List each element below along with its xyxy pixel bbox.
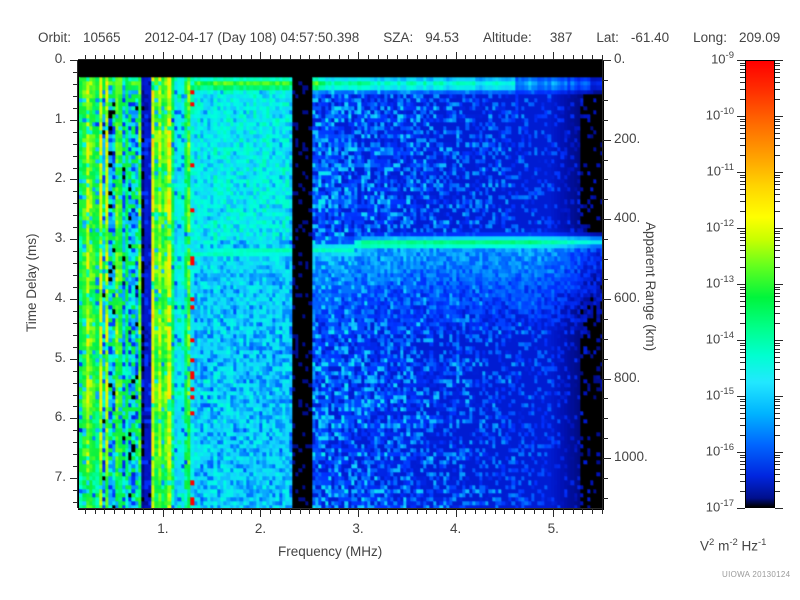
x-tick-label: 1. <box>143 521 183 536</box>
x-tick <box>85 509 86 514</box>
y-tick-left <box>70 299 78 300</box>
y-tick-right <box>603 359 608 360</box>
colorbar-minor-tick-right <box>775 405 780 406</box>
x-tick-top <box>241 55 242 60</box>
x-tick <box>563 509 564 514</box>
colorbar-minor-tick-right <box>775 461 780 462</box>
colorbar-minor-tick-left <box>740 301 745 302</box>
x-tick-top <box>348 55 349 60</box>
colorbar-minor-tick-right <box>775 231 780 232</box>
y-tick-right <box>603 219 611 220</box>
colorbar-minor-tick-right <box>775 464 780 465</box>
colorbar-minor-tick-left <box>740 357 745 358</box>
y-tick-right <box>603 478 608 479</box>
longitude-value: 209.09 <box>739 30 780 45</box>
tick-exponent: -14 <box>720 330 734 341</box>
y-tick-left <box>73 454 78 455</box>
y-tick-label-right: 0. <box>614 51 625 66</box>
colorbar-minor-tick-left <box>740 293 745 294</box>
x-tick-top <box>543 55 544 60</box>
colorbar-minor-tick-left <box>740 345 745 346</box>
tick-exponent: -13 <box>720 274 734 285</box>
longitude-label: Long: <box>693 30 727 45</box>
x-tick-top <box>173 55 174 60</box>
x-tick-top <box>163 52 164 60</box>
x-tick-top <box>192 55 193 60</box>
x-tick <box>153 509 154 514</box>
y-tick-left <box>73 72 78 73</box>
orbit-value: 10565 <box>83 30 121 45</box>
colorbar-minor-tick-left <box>740 401 745 402</box>
x-tick <box>553 509 554 517</box>
x-tick <box>465 509 466 514</box>
x-tick-top <box>426 55 427 60</box>
y-tick-label-right: 800. <box>614 370 640 385</box>
colorbar-minor-tick-left <box>740 306 745 307</box>
x-tick-top <box>124 55 125 60</box>
colorbar-minor-tick-left <box>740 257 745 258</box>
colorbar-minor-tick-left <box>740 72 745 73</box>
x-tick <box>319 509 320 514</box>
x-tick-top <box>378 55 379 60</box>
x-tick <box>534 509 535 514</box>
colorbar-minor-tick-left <box>740 267 745 268</box>
y-tick-label-left: 0. <box>0 51 66 66</box>
y-tick-right <box>603 179 608 180</box>
colorbar-minor-tick-left <box>740 145 745 146</box>
x-tick <box>426 509 427 514</box>
latitude-label: Lat: <box>596 30 619 45</box>
colorbar-minor-tick-left <box>740 77 745 78</box>
colorbar-minor-tick-left <box>740 121 745 122</box>
y-tick-left <box>70 239 78 240</box>
colorbar-minor-tick-left <box>740 323 745 324</box>
y-tick-right <box>603 60 611 61</box>
colorbar-minor-tick-right <box>775 379 780 380</box>
colorbar-tick-label: 10-9 <box>688 50 734 66</box>
y-tick-left <box>70 478 78 479</box>
y-tick-right <box>603 120 608 121</box>
axis-right-line <box>602 60 603 508</box>
colorbar-minor-tick-right <box>775 201 780 202</box>
x-tick <box>485 509 486 514</box>
colorbar-minor-tick-left <box>740 201 745 202</box>
x-tick-top <box>260 52 261 60</box>
colorbar-minor-tick-right <box>775 175 780 176</box>
colorbar-minor-tick-right <box>775 401 780 402</box>
x-tick <box>368 509 369 514</box>
tick-mantissa: 10 <box>706 387 720 402</box>
x-tick <box>543 509 544 514</box>
colorbar-minor-tick-left <box>740 425 745 426</box>
colorbar-minor-tick-right <box>775 181 780 182</box>
colorbar-minor-tick-right <box>775 345 780 346</box>
y-tick-right <box>603 299 611 300</box>
colorbar-major-tick-left <box>737 284 745 285</box>
colorbar-minor-tick-left <box>740 240 745 241</box>
y-tick-right <box>603 279 608 280</box>
colorbar-minor-tick-right <box>775 125 780 126</box>
y-axis-title-left: Time Delay (ms) <box>24 233 39 332</box>
y-tick-label-right: 1000. <box>614 449 648 464</box>
observation-datetime: 2012-04-17 (Day 108) 04:57:50.398 <box>145 30 360 45</box>
colorbar-minor-tick-right <box>775 343 780 344</box>
colorbar-minor-tick-right <box>775 145 780 146</box>
ionogram-plot-area <box>78 60 604 510</box>
colorbar-minor-tick-right <box>775 357 780 358</box>
unit-exp-3: -1 <box>758 537 766 548</box>
y-tick-right <box>603 140 611 141</box>
colorbar-minor-tick-left <box>740 362 745 363</box>
colorbar-minor-tick-left <box>740 89 745 90</box>
x-tick <box>592 509 593 514</box>
colorbar-minor-tick-left <box>740 181 745 182</box>
ionogram-page: Orbit: 10565 2012-04-17 (Day 108) 04:57:… <box>0 0 800 600</box>
sza-label: SZA: <box>383 30 413 45</box>
y-tick-right <box>603 199 608 200</box>
y-tick-left <box>73 466 78 467</box>
x-tick-top <box>319 55 320 60</box>
colorbar-minor-tick-left <box>740 119 745 120</box>
credit-footer: UIOWA 20130124 <box>722 570 790 579</box>
x-tick-top <box>553 52 554 60</box>
x-tick-top <box>85 55 86 60</box>
colorbar-minor-tick-right <box>775 469 780 470</box>
colorbar-major-tick-left <box>737 172 745 173</box>
y-tick-right <box>603 458 611 459</box>
colorbar-minor-tick-right <box>775 306 780 307</box>
y-tick-left <box>70 120 78 121</box>
unit-base: V <box>700 539 709 554</box>
x-tick <box>212 509 213 514</box>
tick-exponent: -17 <box>720 498 734 509</box>
x-tick <box>582 509 583 514</box>
tick-mantissa: 10 <box>706 219 720 234</box>
y-tick-left <box>70 359 78 360</box>
colorbar-major-tick-left <box>737 60 745 61</box>
x-tick <box>407 509 408 514</box>
colorbar-minor-tick-left <box>740 343 745 344</box>
colorbar-minor-tick-right <box>775 237 780 238</box>
colorbar-minor-tick-left <box>740 413 745 414</box>
y-tick-left <box>73 168 78 169</box>
y-tick-right <box>603 80 608 81</box>
x-tick-top <box>582 55 583 60</box>
y-tick-left <box>73 191 78 192</box>
x-tick <box>446 509 447 514</box>
x-tick-top <box>339 55 340 60</box>
y-tick-label-left: 7. <box>0 469 66 484</box>
colorbar-minor-tick-left <box>740 457 745 458</box>
colorbar-minor-tick-right <box>775 77 780 78</box>
y-tick-left <box>73 156 78 157</box>
x-tick <box>456 509 457 517</box>
x-tick-top <box>602 55 603 60</box>
x-tick <box>114 509 115 514</box>
tick-exponent: -12 <box>720 218 734 229</box>
colorbar-minor-tick-left <box>740 125 745 126</box>
y-tick-right <box>603 418 608 419</box>
colorbar-minor-tick-right <box>775 245 780 246</box>
colorbar-minor-tick-right <box>775 474 780 475</box>
x-tick-top <box>465 55 466 60</box>
colorbar-tick-label: 10-15 <box>688 386 734 402</box>
latitude-value: -61.40 <box>631 30 669 45</box>
x-tick-top <box>153 55 154 60</box>
colorbar-major-tick-left <box>737 452 745 453</box>
x-tick <box>104 509 105 514</box>
x-tick-top <box>573 55 574 60</box>
colorbar-minor-tick-left <box>740 128 745 129</box>
y-tick-right <box>603 160 608 161</box>
x-tick-top <box>524 55 525 60</box>
colorbar-minor-tick-left <box>740 250 745 251</box>
colorbar-major-tick-right <box>775 116 783 117</box>
colorbar-major-tick-left <box>737 228 745 229</box>
colorbar-minor-tick-left <box>740 352 745 353</box>
y-tick-label-left: 5. <box>0 350 66 365</box>
y-tick-right <box>603 259 608 260</box>
y-tick-left <box>73 275 78 276</box>
y-tick-label-left: 1. <box>0 111 66 126</box>
tick-mantissa: 10 <box>706 331 720 346</box>
x-tick-top <box>456 52 457 60</box>
y-axis-title-right: Apparent Range (km) <box>643 222 658 351</box>
x-tick-top <box>407 55 408 60</box>
x-tick-top <box>104 55 105 60</box>
x-tick-top <box>280 55 281 60</box>
x-tick <box>309 509 310 514</box>
colorbar-minor-tick-left <box>740 474 745 475</box>
y-tick-label-right: 200. <box>614 131 640 146</box>
colorbar-minor-tick-left <box>740 69 745 70</box>
x-tick-label: 5. <box>533 521 573 536</box>
colorbar-minor-tick-right <box>775 184 780 185</box>
colorbar-minor-tick-left <box>740 491 745 492</box>
y-tick-left <box>73 144 78 145</box>
x-tick-label: 3. <box>338 521 378 536</box>
colorbar-minor-tick-left <box>740 177 745 178</box>
y-tick-left <box>73 490 78 491</box>
colorbar-minor-tick-right <box>775 257 780 258</box>
colorbar-major-tick-right <box>775 228 783 229</box>
colorbar-minor-tick-left <box>740 175 745 176</box>
colorbar-minor-tick-right <box>775 82 780 83</box>
colorbar-minor-tick-right <box>775 177 780 178</box>
unit-exp-2: -2 <box>729 537 737 548</box>
colorbar-minor-tick-left <box>740 313 745 314</box>
y-tick-right <box>603 498 608 499</box>
y-tick-label-left: 2. <box>0 170 66 185</box>
tick-exponent: -11 <box>721 162 734 173</box>
colorbar-minor-tick-right <box>775 194 780 195</box>
x-tick <box>192 509 193 514</box>
colorbar-minor-tick-right <box>775 425 780 426</box>
colorbar-minor-tick-left <box>740 405 745 406</box>
colorbar-minor-tick-left <box>740 379 745 380</box>
x-tick <box>270 509 271 514</box>
y-tick-left <box>73 108 78 109</box>
x-tick-top <box>251 55 252 60</box>
x-tick <box>300 509 301 514</box>
y-tick-right <box>603 239 608 240</box>
x-tick-top <box>436 55 437 60</box>
colorbar-tick-label: 10-12 <box>688 218 734 234</box>
tick-exponent: -9 <box>726 50 734 61</box>
colorbar-minor-tick-left <box>740 138 745 139</box>
colorbar-minor-tick-right <box>775 128 780 129</box>
colorbar-minor-tick-right <box>775 418 780 419</box>
colorbar-minor-tick-right <box>775 267 780 268</box>
colorbar-minor-tick-left <box>740 184 745 185</box>
altitude-label: Altitude: <box>483 30 532 45</box>
colorbar-tick-label: 10-13 <box>688 274 734 290</box>
colorbar-tick-label: 10-11 <box>688 162 734 178</box>
metadata-header: Orbit: 10565 2012-04-17 (Day 108) 04:57:… <box>0 30 800 48</box>
colorbar-minor-tick-right <box>775 491 780 492</box>
y-tick-left <box>73 132 78 133</box>
colorbar-minor-tick-right <box>775 313 780 314</box>
colorbar-minor-tick-right <box>775 240 780 241</box>
x-tick-label: 2. <box>240 521 280 536</box>
y-tick-right <box>603 379 611 380</box>
x-tick <box>387 509 388 514</box>
colorbar-major-tick-right <box>775 396 783 397</box>
colorbar-minor-tick-right <box>775 233 780 234</box>
x-tick <box>95 509 96 514</box>
colorbar-minor-tick-left <box>740 65 745 66</box>
x-tick-top <box>495 55 496 60</box>
colorbar-minor-tick-right <box>775 289 780 290</box>
x-tick-top <box>290 55 291 60</box>
x-tick <box>495 509 496 514</box>
y-tick-left <box>70 418 78 419</box>
axis-left-line <box>77 60 78 508</box>
colorbar-minor-tick-left <box>740 233 745 234</box>
colorbar-minor-tick-right <box>775 408 780 409</box>
x-tick-top <box>387 55 388 60</box>
ionogram-image <box>79 61 603 509</box>
colorbar-minor-tick-right <box>775 323 780 324</box>
colorbar-major-tick-left <box>737 508 745 509</box>
colorbar-major-tick-left <box>737 340 745 341</box>
y-tick-left <box>70 60 78 61</box>
y-tick-left <box>70 179 78 180</box>
tick-mantissa: 10 <box>706 499 720 514</box>
colorbar-minor-tick-left <box>740 369 745 370</box>
colorbar-minor-tick-left <box>740 289 745 290</box>
colorbar-minor-tick-right <box>775 89 780 90</box>
colorbar-tick-label: 10-17 <box>688 498 734 514</box>
y-tick-left <box>73 395 78 396</box>
x-tick <box>436 509 437 514</box>
colorbar-minor-tick-right <box>775 296 780 297</box>
x-tick <box>524 509 525 514</box>
x-axis-title: Frequency (MHz) <box>278 544 382 559</box>
colorbar-unit-label: V2 m-2 Hz-1 <box>700 537 766 554</box>
colorbar-minor-tick-right <box>775 369 780 370</box>
colorbar-minor-tick-left <box>740 464 745 465</box>
colorbar-minor-tick-left <box>740 349 745 350</box>
x-tick <box>143 509 144 514</box>
colorbar-minor-tick-right <box>775 481 780 482</box>
colorbar-minor-tick-right <box>775 69 780 70</box>
x-tick-top <box>114 55 115 60</box>
colorbar-minor-tick-left <box>740 63 745 64</box>
tick-mantissa: 10 <box>707 163 721 178</box>
y-tick-left <box>73 502 78 503</box>
x-tick <box>329 509 330 514</box>
colorbar-minor-tick-left <box>740 461 745 462</box>
y-tick-left <box>73 215 78 216</box>
colorbar-major-tick-right <box>775 172 783 173</box>
x-tick <box>124 509 125 514</box>
colorbar-minor-tick-left <box>740 481 745 482</box>
colorbar-minor-tick-left <box>740 99 745 100</box>
ionogram-canvas <box>79 61 603 509</box>
x-tick-top <box>358 52 359 60</box>
y-tick-right <box>603 438 608 439</box>
colorbar-minor-tick-right <box>775 399 780 400</box>
x-tick-top <box>592 55 593 60</box>
colorbar-minor-tick-left <box>740 155 745 156</box>
colorbar-minor-tick-right <box>775 413 780 414</box>
x-tick <box>348 509 349 514</box>
x-tick-top <box>95 55 96 60</box>
x-tick <box>339 509 340 514</box>
y-tick-left <box>73 227 78 228</box>
colorbar-minor-tick-left <box>740 82 745 83</box>
x-tick <box>417 509 418 514</box>
x-tick <box>397 509 398 514</box>
x-tick <box>221 509 222 514</box>
y-tick-left <box>73 383 78 384</box>
colorbar-minor-tick-right <box>775 99 780 100</box>
x-tick <box>251 509 252 514</box>
colorbar-minor-tick-left <box>740 408 745 409</box>
colorbar-minor-tick-right <box>775 63 780 64</box>
colorbar-minor-tick-left <box>740 194 745 195</box>
y-tick-left <box>73 311 78 312</box>
colorbar-minor-tick-left <box>740 469 745 470</box>
colorbar-minor-tick-right <box>775 155 780 156</box>
colorbar-minor-tick-left <box>740 211 745 212</box>
colorbar-minor-tick-right <box>775 352 780 353</box>
colorbar-minor-tick-right <box>775 121 780 122</box>
y-tick-right <box>603 319 608 320</box>
colorbar-tick-label: 10-16 <box>688 442 734 458</box>
tick-mantissa: 10 <box>706 107 720 122</box>
colorbar <box>745 60 775 508</box>
x-tick <box>358 509 359 517</box>
colorbar-minor-tick-right <box>775 119 780 120</box>
x-tick <box>378 509 379 514</box>
colorbar-tick-label: 10-14 <box>688 330 734 346</box>
colorbar-minor-tick-right <box>775 72 780 73</box>
y-tick-right <box>603 398 608 399</box>
y-tick-label-right: 600. <box>614 290 640 305</box>
colorbar-tick-label: 10-10 <box>688 106 734 122</box>
colorbar-minor-tick-left <box>740 399 745 400</box>
x-tick-top <box>270 55 271 60</box>
colorbar-minor-tick-right <box>775 455 780 456</box>
x-tick-top <box>485 55 486 60</box>
colorbar-minor-tick-right <box>775 211 780 212</box>
x-tick <box>231 509 232 514</box>
colorbar-minor-tick-left <box>740 189 745 190</box>
y-tick-left <box>73 335 78 336</box>
colorbar-major-tick-left <box>737 116 745 117</box>
